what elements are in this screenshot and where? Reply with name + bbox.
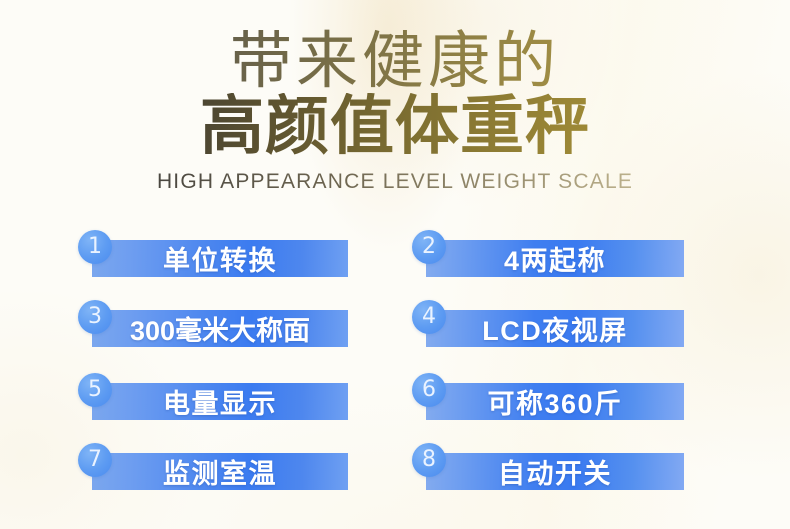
feature-number-badge: 4 — [412, 300, 446, 334]
page-title: 高颜值体重秤 — [0, 93, 790, 160]
feature-item-3[interactable]: 300毫米大称面 3 — [78, 300, 348, 347]
feature-label: 单位转换 — [92, 240, 348, 277]
feature-number-badge: 1 — [78, 230, 112, 264]
feature-number-badge: 8 — [412, 443, 446, 477]
feature-label: 自动开关 — [426, 453, 684, 490]
feature-item-8[interactable]: 自动开关 8 — [412, 443, 684, 490]
feature-number-badge: 7 — [78, 443, 112, 477]
feature-item-2[interactable]: 4两起称 2 — [412, 230, 684, 277]
feature-number-badge: 5 — [78, 373, 112, 407]
page-header: 带来健康的 高颜值体重秤 HIGH APPEARANCE LEVEL WEIGH… — [0, 26, 790, 194]
feature-number-badge: 6 — [412, 373, 446, 407]
feature-label: 监测室温 — [92, 453, 348, 490]
feature-item-6[interactable]: 可称360斤 6 — [412, 373, 684, 420]
feature-label: 4两起称 — [426, 240, 684, 277]
feature-number-badge: 2 — [412, 230, 446, 264]
feature-label: 电量显示 — [92, 383, 348, 420]
feature-label: LCD夜视屏 — [426, 310, 684, 347]
feature-label: 可称360斤 — [426, 383, 684, 420]
feature-item-4[interactable]: LCD夜视屏 4 — [412, 300, 684, 347]
feature-item-7[interactable]: 监测室温 7 — [78, 443, 348, 490]
title-line-1: 带来健康的 — [0, 26, 790, 95]
feature-number-badge: 3 — [78, 300, 112, 334]
feature-grid: 单位转换 1 4两起称 2 300毫米大称面 3 LCD夜视屏 4 电量显示 5… — [0, 230, 790, 520]
feature-label: 300毫米大称面 — [92, 310, 348, 347]
feature-item-1[interactable]: 单位转换 1 — [78, 230, 348, 277]
subtitle-english: HIGH APPEARANCE LEVEL WEIGHT SCALE — [0, 170, 790, 194]
feature-item-5[interactable]: 电量显示 5 — [78, 373, 348, 420]
